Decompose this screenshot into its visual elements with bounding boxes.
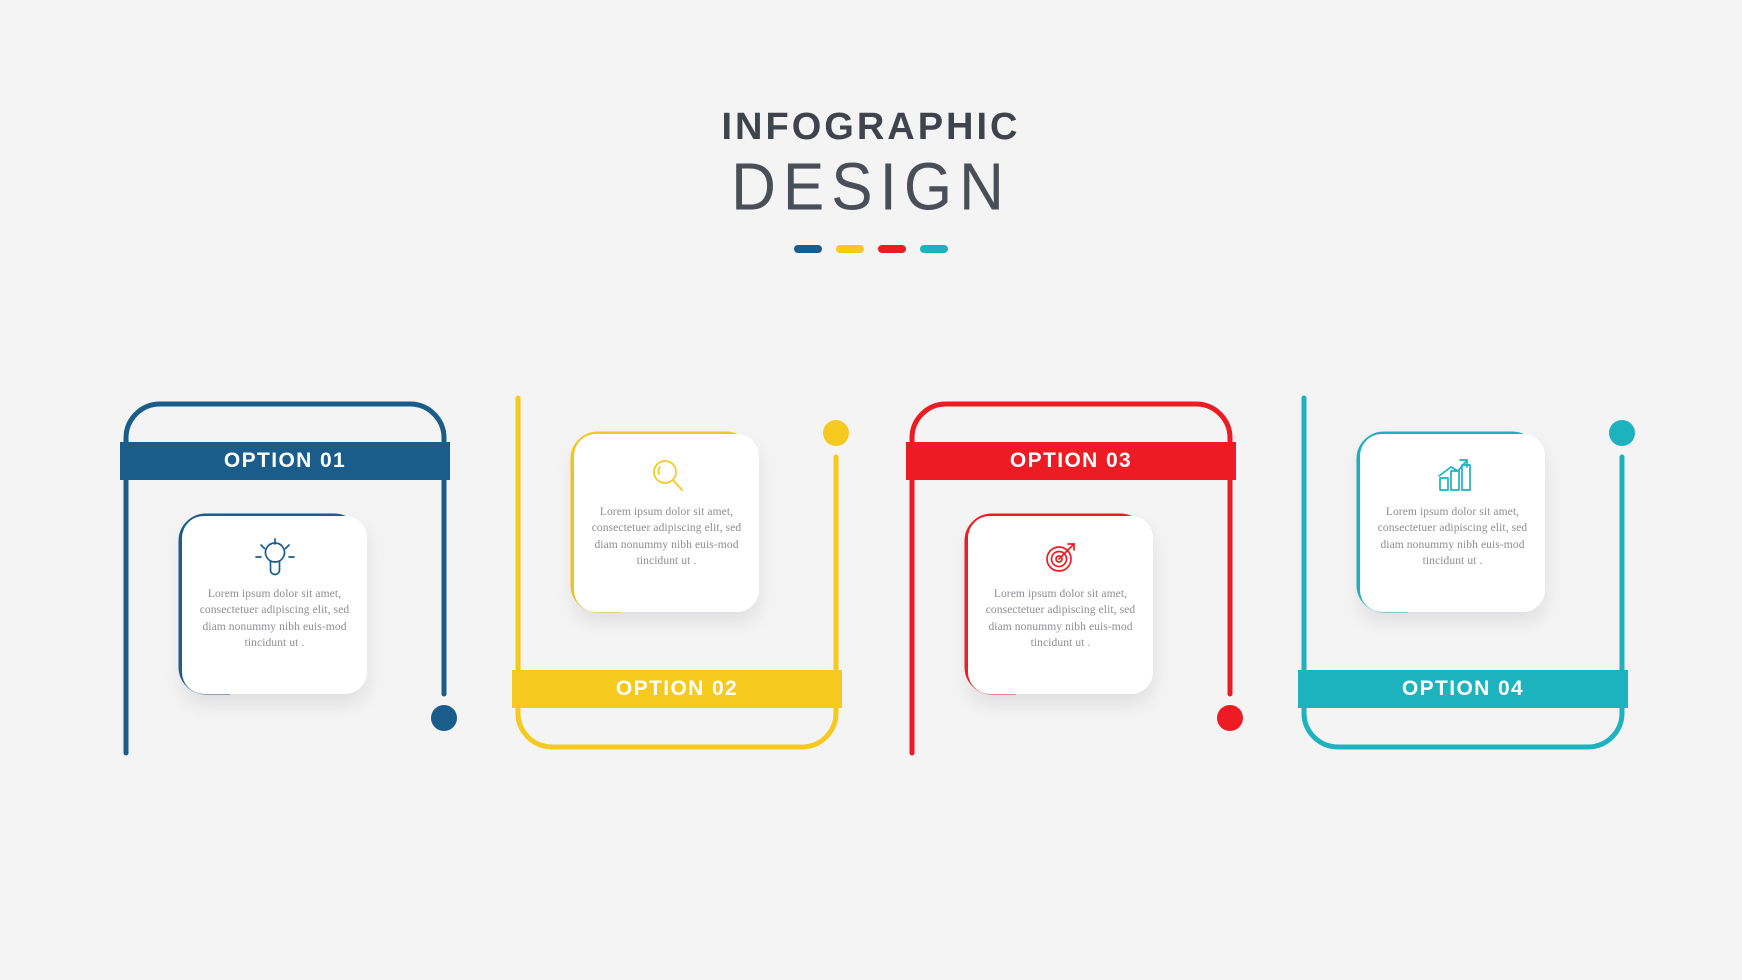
option-02-banner: OPTION 02	[512, 670, 842, 708]
dash-yellow	[836, 245, 864, 253]
bar-chart-growth-icon	[1431, 454, 1475, 496]
page-title-bottom: DESIGN	[0, 149, 1742, 226]
option-03-body: Lorem ipsum dolor sit amet, consectetuer…	[968, 586, 1153, 651]
option-01-label: OPTION 01	[224, 449, 346, 473]
option-card-03[interactable]: OPTION 03 Lorem ipsum dolor sit amet, co…	[906, 398, 1236, 753]
option-01-banner: OPTION 01	[120, 442, 450, 480]
dash-teal	[920, 245, 948, 253]
options-board: OPTION 01 Lorem ipsum dolor sit amet, co…	[0, 398, 1742, 798]
dash-red	[878, 245, 906, 253]
option-card-01[interactable]: OPTION 01 Lorem ipsum dolor sit amet, co…	[120, 398, 450, 753]
option-01-content-card: Lorem ipsum dolor sit amet, consectetuer…	[182, 516, 367, 694]
option-02-body: Lorem ipsum dolor sit amet, consectetuer…	[574, 504, 759, 569]
frame-end-dot	[823, 420, 849, 446]
frame-end-dot	[431, 705, 457, 731]
dash-blue	[794, 245, 822, 253]
lightbulb-icon	[253, 536, 297, 578]
magnifier-icon	[645, 454, 689, 496]
option-02-label: OPTION 02	[616, 677, 738, 701]
target-icon	[1039, 536, 1083, 578]
accent-dash-row	[0, 245, 1742, 253]
option-03-content-card: Lorem ipsum dolor sit amet, consectetuer…	[968, 516, 1153, 694]
option-card-02[interactable]: OPTION 02 Lorem ipsum dolor sit amet, co…	[512, 398, 842, 753]
option-03-label: OPTION 03	[1010, 449, 1132, 473]
frame-end-dot	[1217, 705, 1243, 731]
option-04-banner: OPTION 04	[1298, 670, 1628, 708]
page-title-top: INFOGRAPHIC	[0, 108, 1742, 146]
option-04-body: Lorem ipsum dolor sit amet, consectetuer…	[1360, 504, 1545, 569]
option-04-content-card: Lorem ipsum dolor sit amet, consectetuer…	[1360, 434, 1545, 612]
option-01-body: Lorem ipsum dolor sit amet, consectetuer…	[182, 586, 367, 651]
frame-end-dot	[1609, 420, 1635, 446]
option-02-content-card: Lorem ipsum dolor sit amet, consectetuer…	[574, 434, 759, 612]
header: INFOGRAPHIC DESIGN	[0, 108, 1742, 253]
option-03-banner: OPTION 03	[906, 442, 1236, 480]
option-04-label: OPTION 04	[1402, 677, 1524, 701]
option-card-04[interactable]: OPTION 04 Lorem ipsum dolor sit amet, co…	[1298, 398, 1628, 753]
